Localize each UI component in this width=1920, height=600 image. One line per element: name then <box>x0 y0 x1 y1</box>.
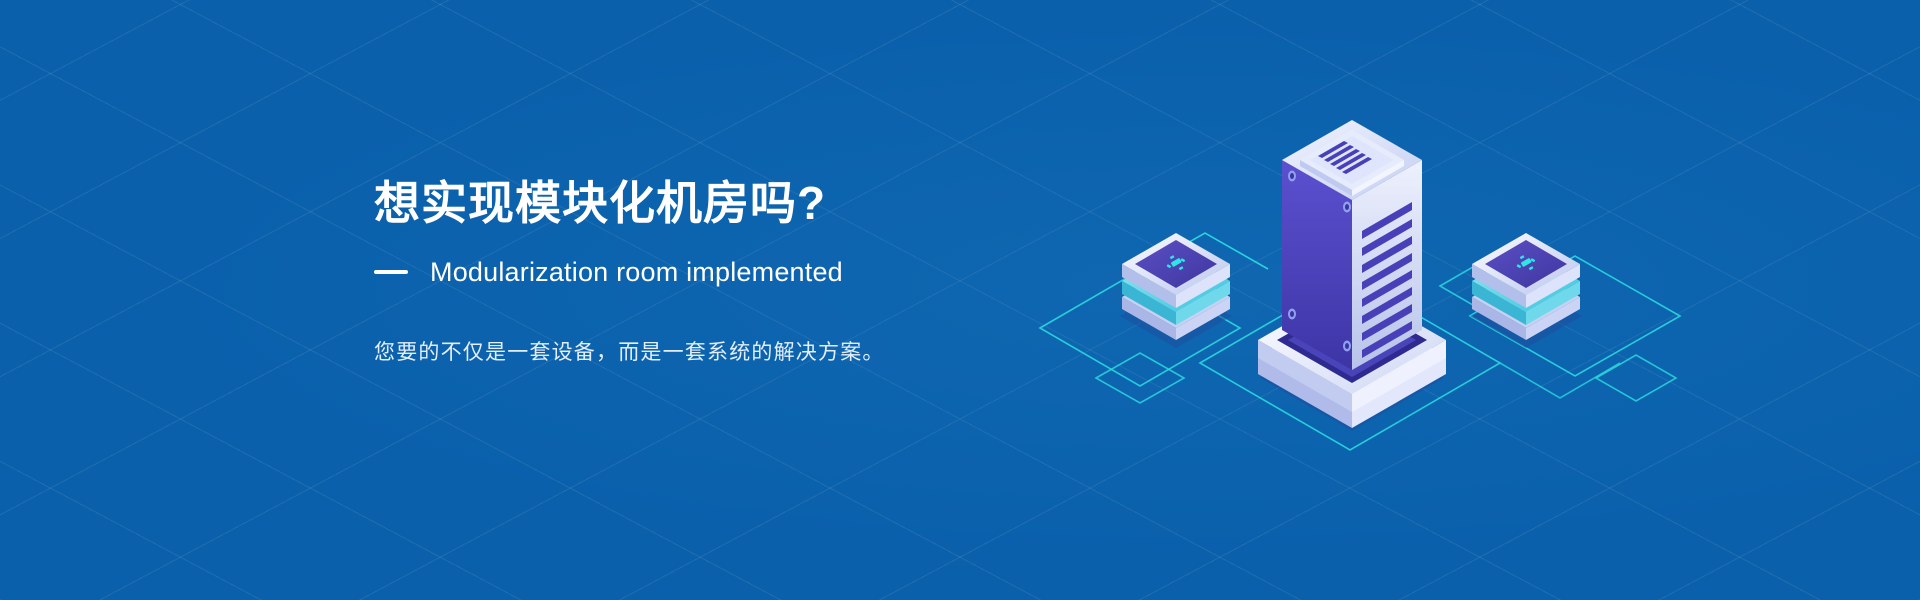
isometric-server-illustration <box>1000 78 1700 438</box>
server-tower <box>1282 120 1422 370</box>
hero-banner: 想实现模块化机房吗? Modularization room implement… <box>0 0 1920 600</box>
page-subtitle: Modularization room implemented <box>430 256 843 288</box>
page-title: 想实现模块化机房吗? <box>374 176 1094 230</box>
dash-marker-icon <box>374 270 408 274</box>
subtitle-row: Modularization room implemented <box>374 256 1094 288</box>
page-description: 您要的不仅是一套设备，而是一套系统的解决方案。 <box>374 337 1094 369</box>
hero-copy-block: 想实现模块化机房吗? Modularization room implement… <box>374 176 1094 368</box>
